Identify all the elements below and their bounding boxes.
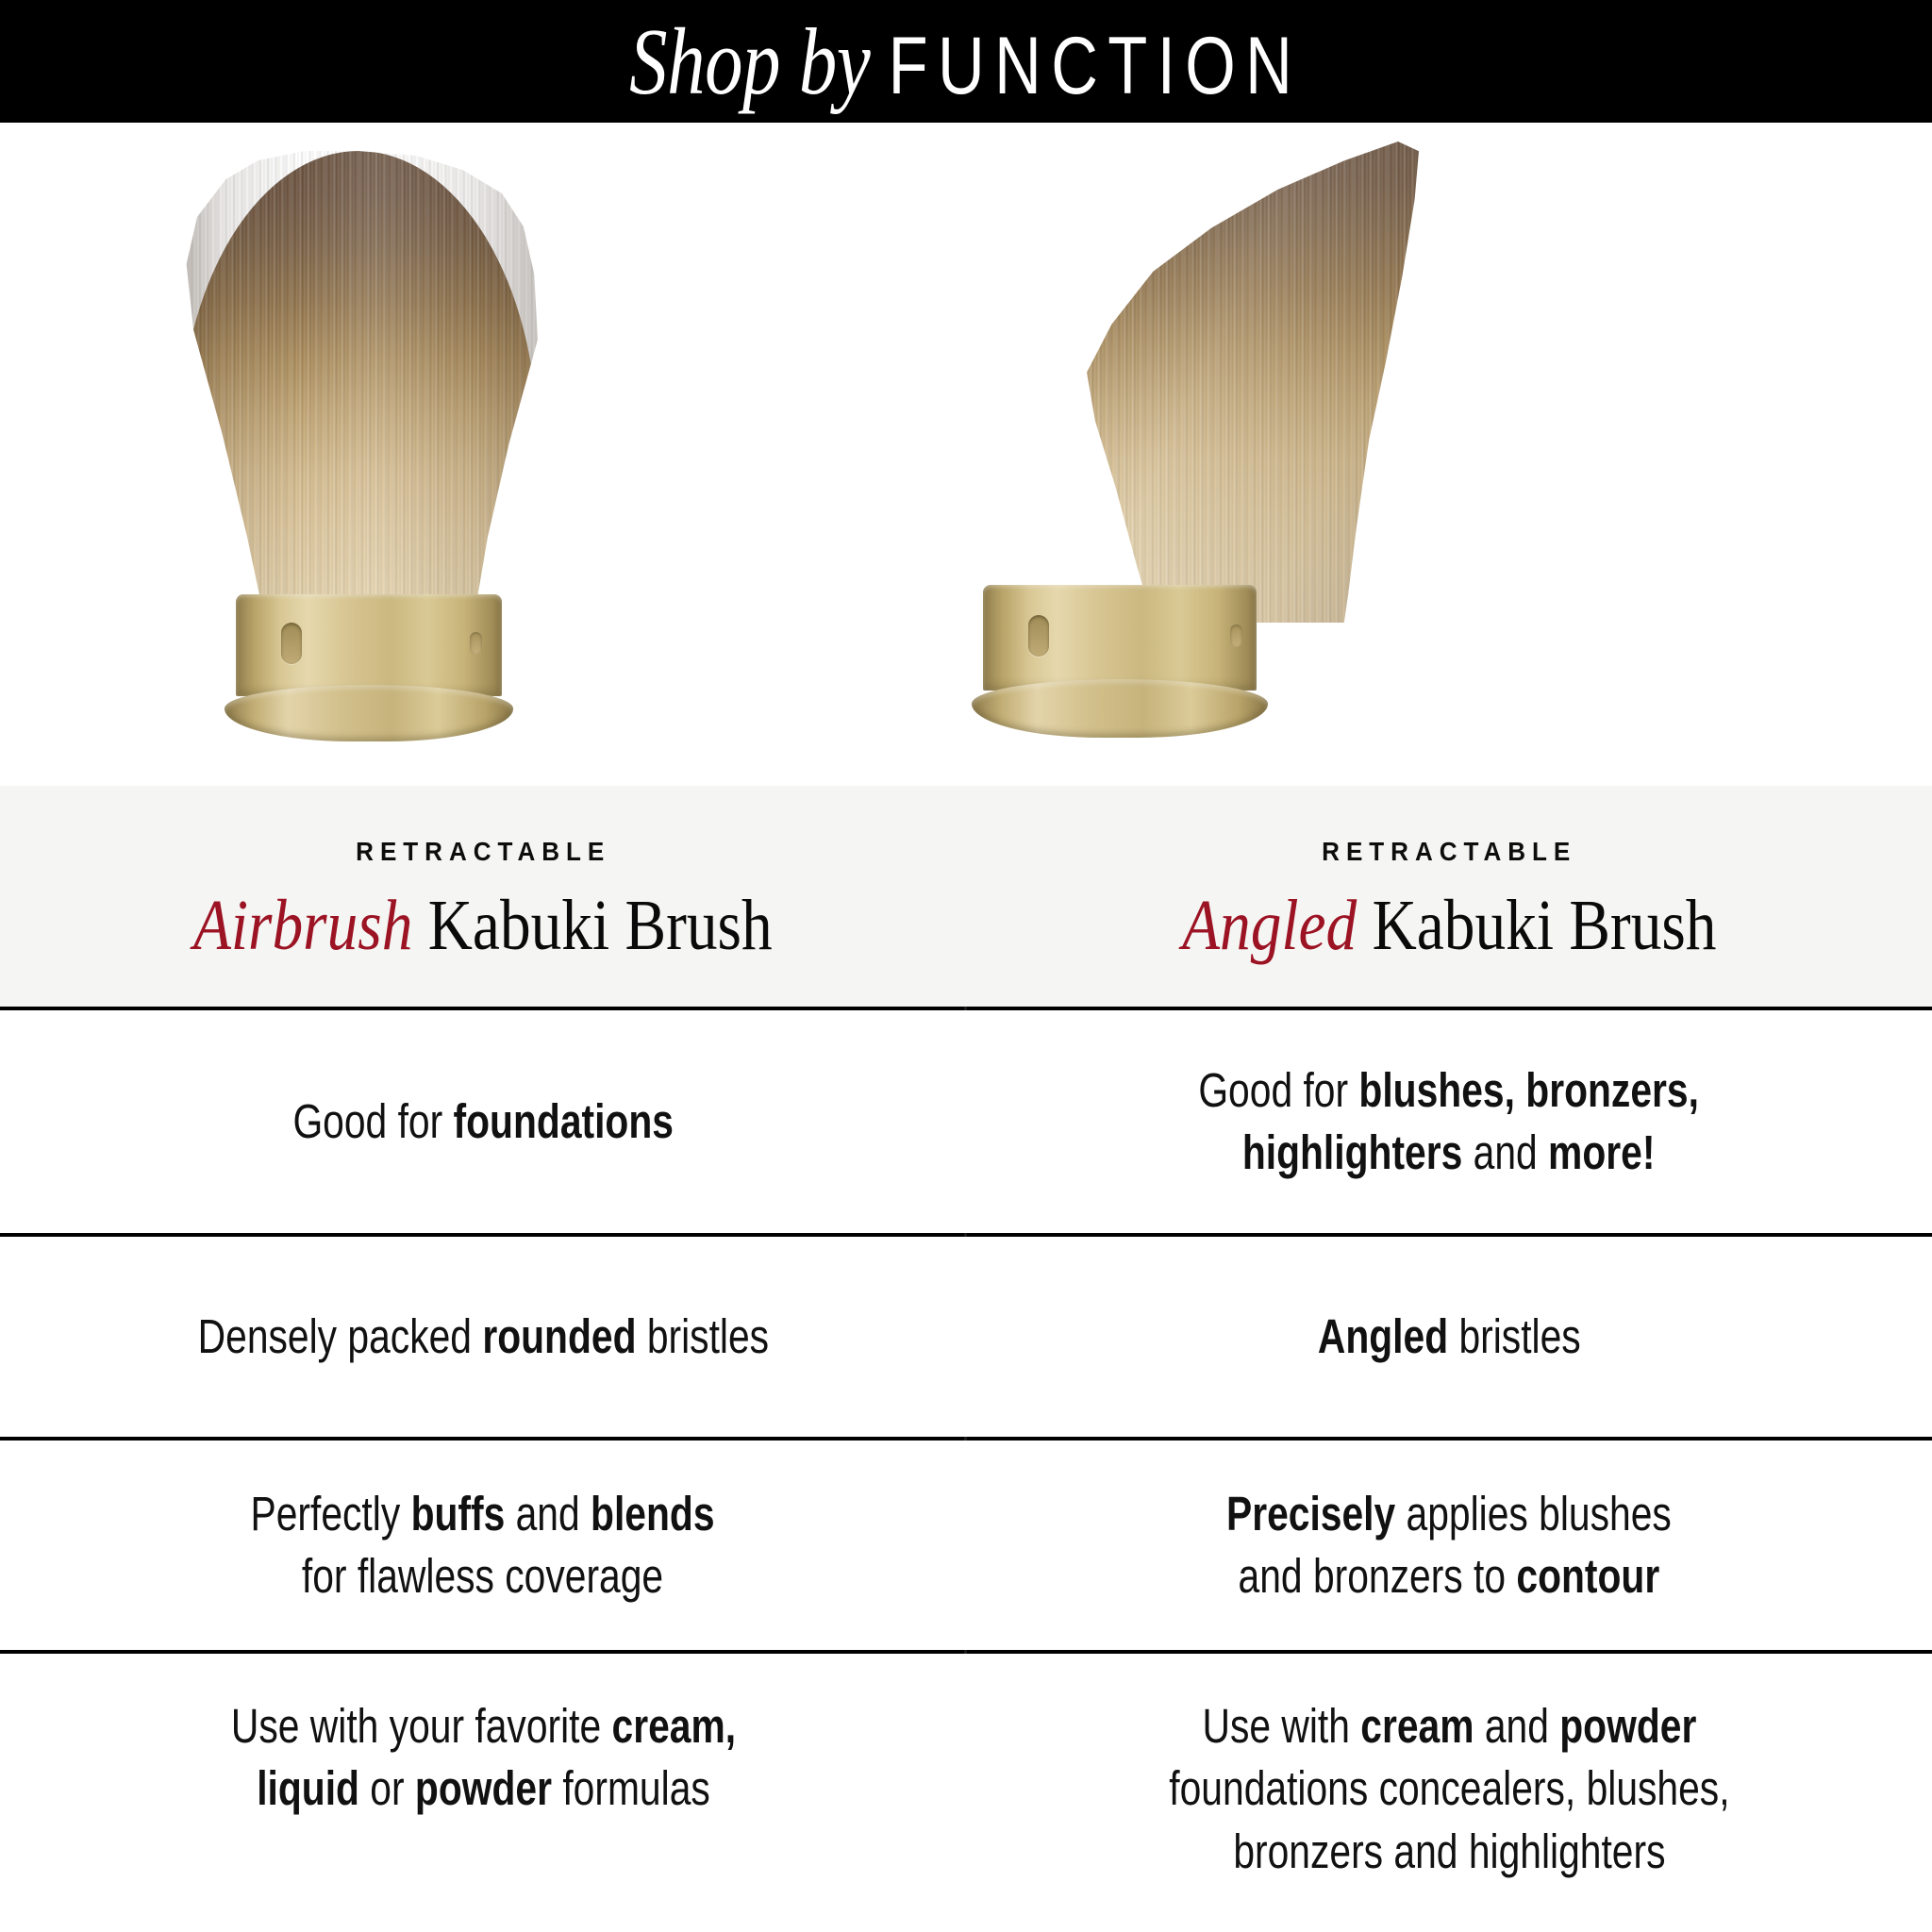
product-eyebrow-right: RETRACTABLE bbox=[1322, 837, 1576, 867]
page-title: Shop by FUNCTION bbox=[629, 14, 1302, 109]
ferrule-slot-icon bbox=[281, 623, 302, 664]
bristle-shading bbox=[1004, 142, 1419, 623]
bristle-shading bbox=[179, 151, 538, 623]
bristle-head-angled-icon bbox=[1004, 142, 1419, 623]
feature-cell-right: Precisely applies blushes and bronzers t… bbox=[966, 1441, 1932, 1650]
table-row: Use with your favorite cream, liquid or … bbox=[0, 1654, 1932, 1932]
page-header-band: Shop by FUNCTION bbox=[0, 0, 1932, 123]
product-name-accent-right: Angled bbox=[1182, 886, 1357, 965]
gold-ferrule bbox=[983, 585, 1257, 691]
feature-text-right: Precisely applies blushes and bronzers t… bbox=[1226, 1483, 1672, 1608]
page-title-script: Shop by bbox=[629, 14, 870, 109]
product-name-right: Angled Kabuki Brush bbox=[1182, 890, 1716, 961]
product-name-accent-left: Airbrush bbox=[193, 886, 412, 965]
feature-text-right: Use with cream and powder foundations co… bbox=[1169, 1695, 1729, 1883]
table-row: Perfectly buffs and blends for flawless … bbox=[0, 1441, 1932, 1650]
feature-cell-left: Good for foundations bbox=[0, 1010, 966, 1233]
product-eyebrow-left: RETRACTABLE bbox=[356, 837, 610, 867]
product-photo-area bbox=[0, 123, 1932, 786]
feature-text-left: Densely packed rounded bristles bbox=[197, 1306, 768, 1368]
gold-ferrule bbox=[236, 594, 502, 696]
table-row: Good for foundations Good for blushes, b… bbox=[0, 1010, 1932, 1233]
feature-text-right: Good for blushes, bronzers, highlighters… bbox=[1199, 1059, 1700, 1185]
gold-ferrule-ring bbox=[972, 679, 1268, 738]
product-name-rest-right: Kabuki Brush bbox=[1357, 886, 1716, 965]
bristle-head-rounded-icon bbox=[179, 151, 538, 623]
product-image-angled-kabuki[interactable] bbox=[966, 123, 1932, 786]
feature-cell-left: Perfectly buffs and blends for flawless … bbox=[0, 1441, 966, 1650]
product-name-rest-left: Kabuki Brush bbox=[413, 886, 773, 965]
feature-cell-right: Angled bristles bbox=[966, 1237, 1932, 1437]
product-title-cell-left[interactable]: RETRACTABLE Airbrush Kabuki Brush bbox=[0, 786, 966, 1007]
product-title-cell-right[interactable]: RETRACTABLE Angled Kabuki Brush bbox=[966, 786, 1932, 1007]
product-title-row: RETRACTABLE Airbrush Kabuki Brush RETRAC… bbox=[0, 786, 1932, 1007]
feature-text-left: Good for foundations bbox=[292, 1091, 674, 1153]
product-image-airbrush-kabuki[interactable] bbox=[0, 123, 966, 786]
gold-ferrule-ring bbox=[225, 685, 513, 741]
page-title-caps: FUNCTION bbox=[889, 25, 1303, 107]
shop-by-function-comparison-page: Shop by FUNCTION bbox=[0, 0, 1932, 1932]
product-name-left: Airbrush Kabuki Brush bbox=[193, 890, 773, 961]
comparison-table: RETRACTABLE Airbrush Kabuki Brush RETRAC… bbox=[0, 786, 1932, 1932]
ferrule-slot-icon bbox=[1028, 615, 1049, 657]
feature-cell-left: Use with your favorite cream, liquid or … bbox=[0, 1654, 966, 1932]
table-row: Densely packed rounded bristles Angled b… bbox=[0, 1237, 1932, 1437]
feature-cell-left: Densely packed rounded bristles bbox=[0, 1237, 966, 1437]
feature-text-left: Use with your favorite cream, liquid or … bbox=[230, 1695, 735, 1821]
ferrule-notch-icon bbox=[1230, 625, 1242, 647]
feature-cell-right: Use with cream and powder foundations co… bbox=[966, 1654, 1932, 1932]
feature-text-left: Perfectly buffs and blends for flawless … bbox=[251, 1483, 715, 1608]
feature-cell-right: Good for blushes, bronzers, highlighters… bbox=[966, 1010, 1932, 1233]
feature-text-right: Angled bristles bbox=[1318, 1306, 1581, 1368]
ferrule-notch-icon bbox=[470, 632, 482, 655]
